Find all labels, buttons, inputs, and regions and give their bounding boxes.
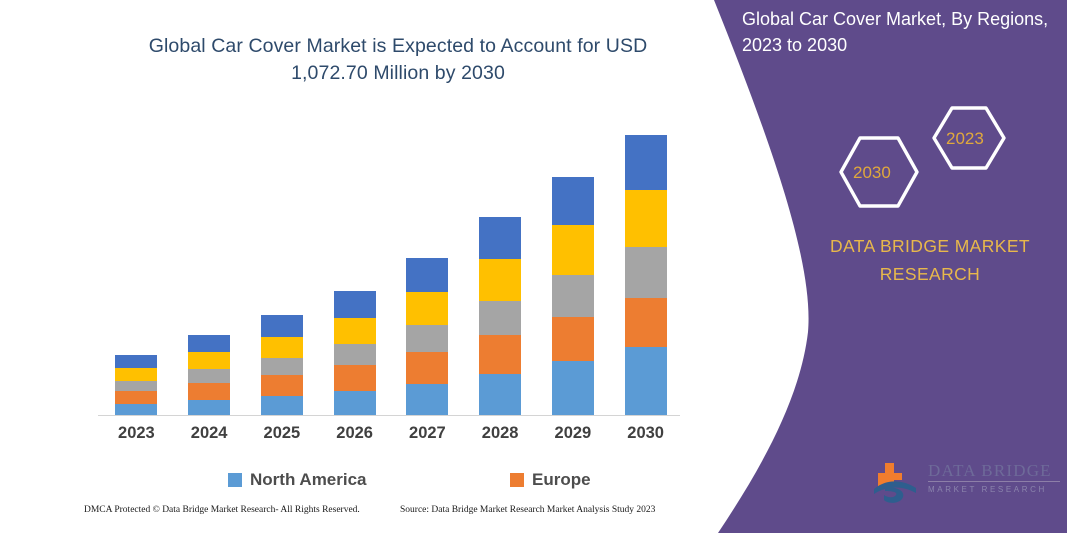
data-bridge-logo: DATA BRIDGE MARKET RESEARCH xyxy=(872,455,1062,510)
legend-label: Europe xyxy=(532,470,591,490)
bar-2030[interactable] xyxy=(625,110,667,415)
bar-segment-2023-series-4 xyxy=(115,368,157,381)
bar-segment-2027-series-4 xyxy=(406,292,448,325)
infographic-slide: Global Car Cover Market is Expected to A… xyxy=(0,0,1067,533)
bar-segment-2027-north-america xyxy=(406,384,448,415)
bar-segment-2028-north-america xyxy=(479,374,521,415)
x-axis-label-2030: 2030 xyxy=(601,424,691,443)
bar-segment-2029-north-america xyxy=(552,361,594,415)
bar-segment-2029-series-3 xyxy=(552,275,594,317)
bar-segment-2027-series-3 xyxy=(406,325,448,352)
bar-segment-2026-series-3 xyxy=(334,344,376,365)
bar-segment-2023-europe xyxy=(115,391,157,404)
logo-divider xyxy=(928,481,1060,482)
bar-segment-2028-series-5 xyxy=(479,217,521,259)
logo-mark-icon xyxy=(872,457,924,505)
bar-segment-2030-series-3 xyxy=(625,247,667,298)
bar-segment-2026-north-america xyxy=(334,391,376,415)
bar-segment-2028-series-3 xyxy=(479,301,521,335)
hexagon-2023-label: 2023 xyxy=(946,129,984,149)
bar-2024[interactable] xyxy=(188,110,230,415)
bar-segment-2026-series-5 xyxy=(334,291,376,318)
panel-title: Global Car Cover Market, By Regions, 202… xyxy=(742,6,1052,58)
bar-segment-2030-europe xyxy=(625,298,667,347)
bar-segment-2025-series-3 xyxy=(261,358,303,375)
bar-segment-2023-series-3 xyxy=(115,381,157,391)
logo-title: DATA BRIDGE xyxy=(928,461,1062,480)
bar-segment-2025-series-4 xyxy=(261,337,303,358)
plot-area xyxy=(98,110,680,415)
bar-segment-2028-series-4 xyxy=(479,259,521,301)
bar-segment-2030-series-4 xyxy=(625,190,667,247)
bar-segment-2027-series-5 xyxy=(406,258,448,292)
bar-2023[interactable] xyxy=(115,110,157,415)
bar-2026[interactable] xyxy=(334,110,376,415)
hexagon-2030-label: 2030 xyxy=(853,163,891,183)
bar-segment-2030-north-america xyxy=(625,347,667,415)
bar-segment-2025-series-5 xyxy=(261,315,303,337)
logo-wordmark: DATA BRIDGE MARKET RESEARCH xyxy=(928,461,1062,495)
logo-subtitle: MARKET RESEARCH xyxy=(928,484,1062,495)
brand-name: DATA BRIDGE MARKET RESEARCH xyxy=(800,232,1060,288)
bar-segment-2030-series-5 xyxy=(625,135,667,190)
bar-segment-2027-europe xyxy=(406,352,448,384)
dmca-notice: DMCA Protected © Data Bridge Market Rese… xyxy=(84,505,360,515)
legend-item-europe[interactable]: Europe xyxy=(510,470,591,490)
bar-segment-2025-north-america xyxy=(261,396,303,415)
bar-segment-2025-europe xyxy=(261,375,303,396)
bar-segment-2029-series-4 xyxy=(552,225,594,275)
bar-segment-2023-series-5 xyxy=(115,355,157,368)
bar-segment-2024-series-3 xyxy=(188,369,230,383)
legend-swatch-icon xyxy=(510,473,524,487)
source-note: Source: Data Bridge Market Research Mark… xyxy=(400,505,655,515)
bar-2025[interactable] xyxy=(261,110,303,415)
hexagon-badges: 2023 2030 xyxy=(828,96,1008,216)
legend-label: North America xyxy=(250,470,367,490)
legend-swatch-icon xyxy=(228,473,242,487)
bar-segment-2024-series-5 xyxy=(188,335,230,352)
x-axis-line xyxy=(98,415,680,416)
bar-segment-2026-europe xyxy=(334,365,376,391)
stacked-bar-chart: 20232024202520262027202820292030 xyxy=(0,0,700,470)
footer: DMCA Protected © Data Bridge Market Rese… xyxy=(0,505,700,529)
bar-segment-2024-series-4 xyxy=(188,352,230,369)
bar-segment-2029-series-5 xyxy=(552,177,594,225)
bar-segment-2028-europe xyxy=(479,335,521,374)
bar-segment-2024-europe xyxy=(188,383,230,400)
bar-segment-2026-series-4 xyxy=(334,318,376,344)
legend-item-north-america[interactable]: North America xyxy=(228,470,367,490)
bar-segment-2024-north-america xyxy=(188,400,230,415)
bar-2029[interactable] xyxy=(552,110,594,415)
bar-2028[interactable] xyxy=(479,110,521,415)
chart-legend: North AmericaEurope xyxy=(98,470,680,496)
bar-segment-2029-europe xyxy=(552,317,594,361)
bar-segment-2023-north-america xyxy=(115,404,157,415)
bar-2027[interactable] xyxy=(406,110,448,415)
